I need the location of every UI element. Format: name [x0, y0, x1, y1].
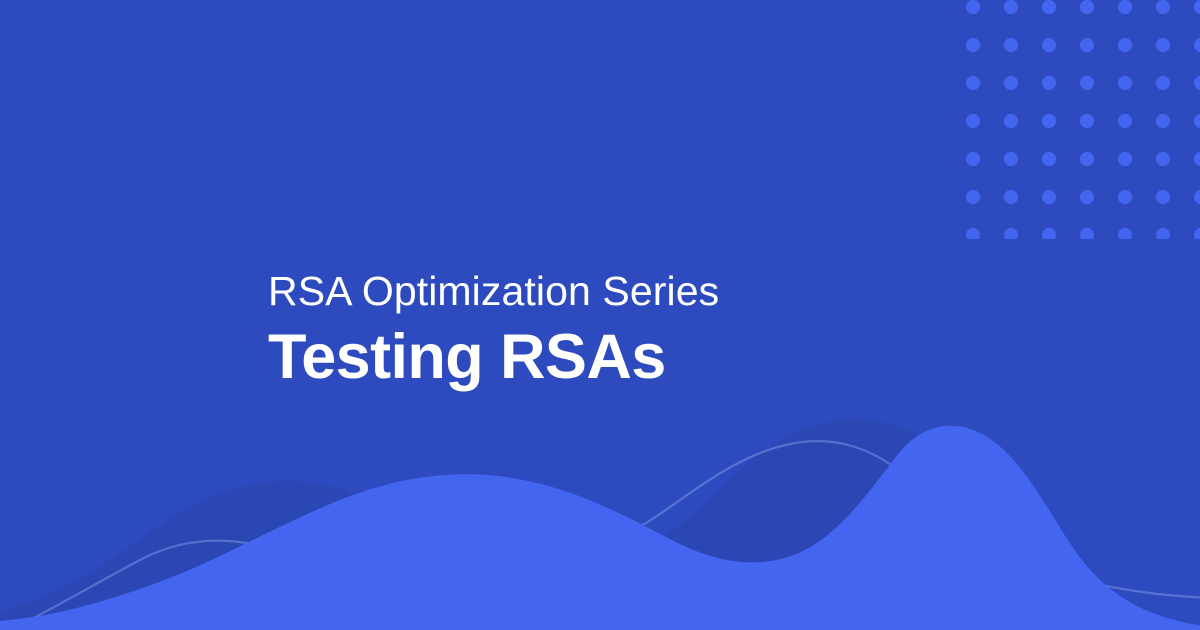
social-share-banner: RSA Optimization Series Testing RSAs — [0, 0, 1200, 630]
series-eyebrow-text: RSA Optimization Series — [268, 268, 1028, 316]
page-title: Testing RSAs — [268, 320, 1028, 394]
title-block: RSA Optimization Series Testing RSAs — [268, 268, 1028, 394]
